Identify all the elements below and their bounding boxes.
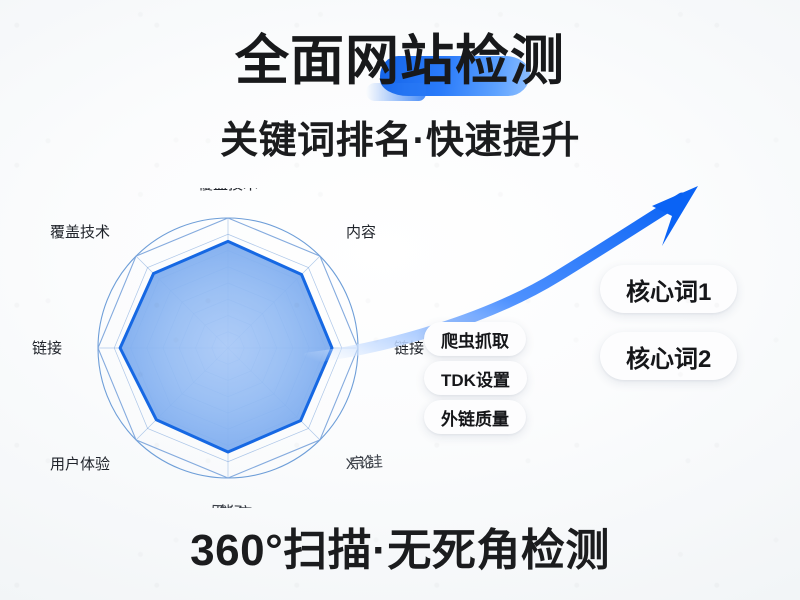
radar-data-polygon bbox=[120, 241, 332, 452]
headline-container: 全面网站检测 bbox=[0, 30, 800, 92]
page-subtitle: 关键词排名·快速提升 bbox=[0, 118, 800, 164]
tag-keyword-2[interactable]: 核心词2 bbox=[600, 332, 737, 380]
radar-axis-label: 链接 bbox=[32, 340, 62, 357]
title-text-before: 全面 bbox=[235, 31, 345, 91]
radar-axis-label: 用户体验 bbox=[50, 456, 110, 473]
tag-backlink[interactable]: 外链质量 bbox=[424, 400, 526, 434]
tag-keyword-1[interactable]: 核心词1 bbox=[600, 265, 737, 313]
radar-axis-label: 用能经广 bbox=[210, 503, 253, 508]
title-text-after: 检测 bbox=[455, 31, 565, 91]
radar-axis-label: 内容 bbox=[346, 224, 376, 241]
tag-crawl[interactable]: 爬虫抓取 bbox=[424, 322, 526, 356]
radar-axis-label: 覆盖技术 bbox=[198, 188, 258, 193]
page-footer-slogan: 360°扫描·无死角检测 bbox=[0, 524, 800, 578]
radar-axis-label: 链接 bbox=[394, 340, 424, 357]
arrow-head bbox=[652, 186, 698, 246]
radar-axis-label: X宗论詿 bbox=[345, 452, 383, 473]
radar-axis-label: 覆盖技术 bbox=[50, 224, 110, 241]
tag-tdk[interactable]: TDK设置 bbox=[424, 361, 527, 395]
radar-chart-svg: 覆盖技术内容链接X宗论詿用能经广用户体验链接覆盖技术 bbox=[28, 188, 428, 508]
radar-chart: 覆盖技术内容链接X宗论詿用能经广用户体验链接覆盖技术 bbox=[28, 188, 428, 508]
poster-canvas: 全面网站检测 关键词排名·快速提升 覆盖技术内容链接X宗论詿用能经广用户体验链接… bbox=[0, 0, 800, 600]
page-title: 全面网站检测 bbox=[235, 30, 565, 92]
title-text-highlight: 网站 bbox=[345, 31, 455, 91]
